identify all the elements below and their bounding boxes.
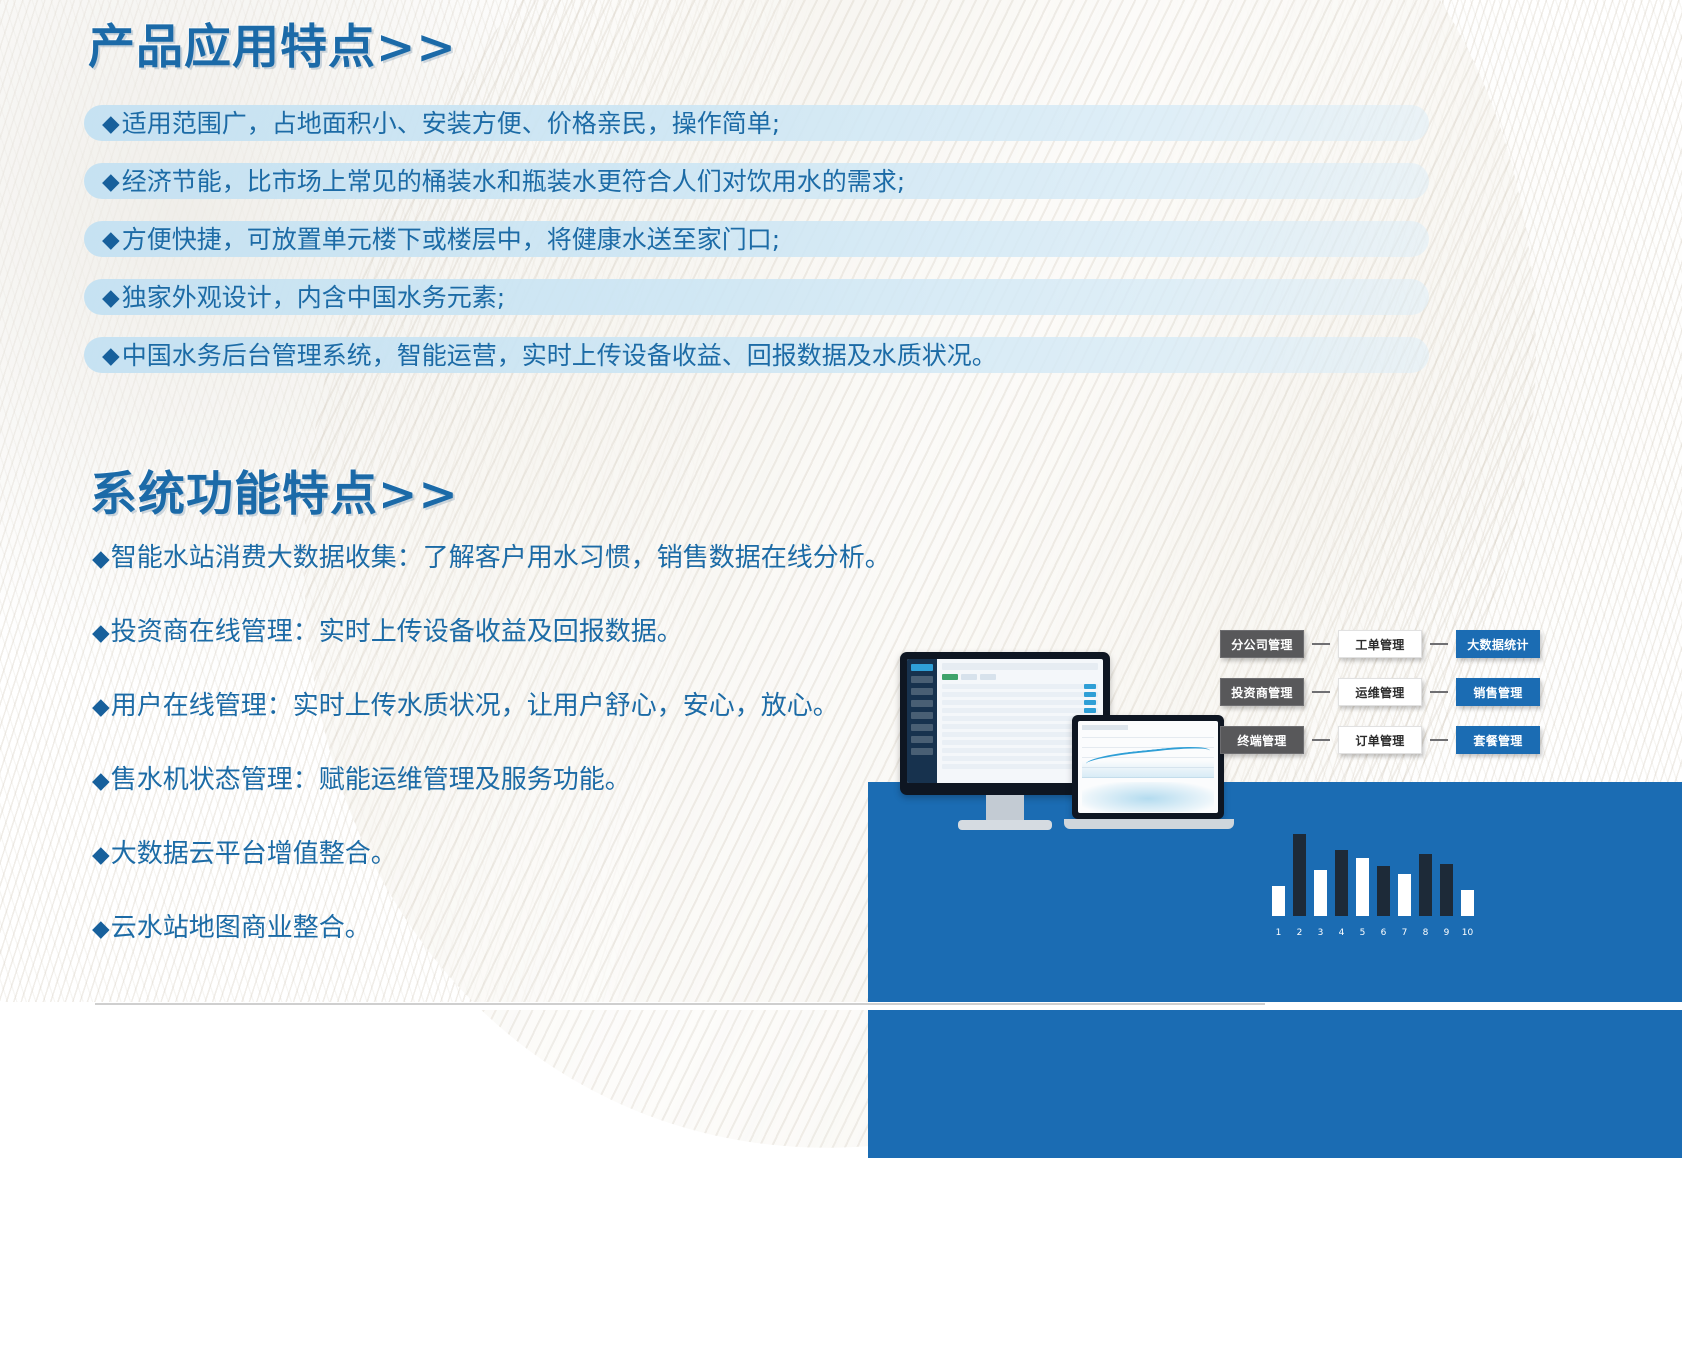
bar-chart-x-label: 4: [1335, 928, 1348, 938]
bar-chart-x-label: 3: [1314, 928, 1327, 938]
laptop-lid: [1072, 715, 1224, 819]
diamond-bullet-icon: ◆: [92, 843, 110, 866]
bar-chart-x-label: 2: [1293, 928, 1306, 938]
flow-box-order-management[interactable]: 订单管理: [1338, 726, 1422, 754]
monitor-stand-base: [958, 820, 1052, 830]
bar-chart-bar: [1272, 886, 1285, 916]
flow-connector: [1312, 691, 1330, 693]
laptop-base: [1064, 819, 1234, 829]
flow-box-big-data-statistics[interactable]: 大数据统计: [1456, 630, 1540, 658]
list-item-label: 中国水务后台管理系统，智能运营，实时上传设备收益、回报数据及水质状况。: [122, 343, 997, 368]
list-item: ◆ 独家外观设计，内含中国水务元素;: [84, 279, 1429, 315]
diamond-bullet-icon: ◆: [92, 621, 110, 644]
laptop-line-chart-mock: [1082, 734, 1214, 778]
flow-row: 分公司管理 工单管理 大数据统计: [1220, 630, 1540, 658]
bar-chart-bar: [1293, 834, 1306, 916]
monitor-stand-neck: [986, 795, 1024, 821]
flow-box-sales-management[interactable]: 销售管理: [1456, 678, 1540, 706]
bar-chart-bar: [1335, 850, 1348, 916]
dashboard-sidebar-mock: [907, 659, 937, 783]
list-item-label: 独家外观设计，内含中国水务元素;: [122, 285, 505, 310]
product-features-heading: 产品应用特点>>: [88, 8, 457, 77]
product-feature-list: ◆ 适用范围广，占地面积小、安装方便、价格亲民，操作简单; ◆ 经济节能，比市场…: [84, 105, 1434, 395]
bar-chart-bar: [1377, 866, 1390, 916]
list-item: ◆ 售水机状态管理：赋能运维管理及服务功能。: [92, 765, 992, 795]
list-item: ◆ 云水站地图商业整合。: [92, 913, 992, 943]
list-item: ◆ 方便快捷，可放置单元楼下或楼层中，将健康水送至家门口;: [84, 221, 1429, 257]
bottom-divider-rule: [95, 1003, 1265, 1005]
bar-chart-bar: [1356, 858, 1369, 916]
list-item: ◆ 适用范围广，占地面积小、安装方便、价格亲民，操作简单;: [84, 105, 1429, 141]
laptop-screen: [1078, 721, 1218, 813]
list-item-label: 售水机状态管理：赋能运维管理及服务功能。: [111, 767, 631, 793]
diamond-bullet-icon: ◆: [92, 917, 110, 940]
system-features-heading: 系统功能特点>>: [90, 455, 459, 524]
bar-chart-bar: [1440, 864, 1453, 916]
list-item: ◆ 中国水务后台管理系统，智能运营，实时上传设备收益、回报数据及水质状况。: [84, 337, 1429, 373]
diamond-bullet-icon: ◆: [92, 547, 110, 570]
diamond-bullet-icon: ◆: [92, 695, 110, 718]
list-item-label: 经济节能，比市场上常见的桶装水和瓶装水更符合人们对饮用水的需求;: [122, 169, 905, 194]
bar-chart-x-label: 1: [1272, 928, 1285, 938]
flow-box-investor-management[interactable]: 投资商管理: [1220, 678, 1304, 706]
bar-chart-x-label: 9: [1440, 928, 1453, 938]
system-illustration: 分公司管理 工单管理 大数据统计 投资商管理 运维管理 销售管理 终端管理 订单…: [868, 560, 1682, 1010]
flow-connector: [1312, 643, 1330, 645]
bar-chart-x-label: 10: [1461, 928, 1474, 938]
statistics-bar-chart: 12345678910: [1272, 818, 1487, 938]
flow-box-work-order-management[interactable]: 工单管理: [1338, 630, 1422, 658]
bar-chart-bar: [1398, 874, 1411, 916]
bar-chart-x-label: 6: [1377, 928, 1390, 938]
flow-connector: [1430, 739, 1448, 741]
list-item-label: 大数据云平台增值整合。: [111, 841, 397, 867]
diamond-bullet-icon: ◆: [102, 344, 120, 367]
bar-chart-bars: [1272, 824, 1487, 916]
list-item-label: 投资商在线管理：实时上传设备收益及回报数据。: [111, 619, 683, 645]
list-item-label: 智能水站消费大数据收集：了解客户用水习惯，销售数据在线分析。: [111, 545, 891, 571]
list-item: ◆ 用户在线管理：实时上传水质状况，让用户舒心，安心，放心。: [92, 691, 992, 721]
flow-box-operations-management[interactable]: 运维管理: [1338, 678, 1422, 706]
flow-box-branch-management[interactable]: 分公司管理: [1220, 630, 1304, 658]
diamond-bullet-icon: ◆: [102, 170, 120, 193]
flow-row: 投资商管理 运维管理 销售管理: [1220, 678, 1540, 706]
flow-box-terminal-management[interactable]: 终端管理: [1220, 726, 1304, 754]
list-item-label: 云水站地图商业整合。: [111, 915, 371, 941]
diamond-bullet-icon: ◆: [102, 228, 120, 251]
flow-connector: [1430, 643, 1448, 645]
flow-row: 终端管理 订单管理 套餐管理: [1220, 726, 1540, 754]
list-item-label: 用户在线管理：实时上传水质状况，让用户舒心，安心，放心。: [111, 693, 839, 719]
bar-chart-bar: [1314, 870, 1327, 916]
bar-chart-x-label: 5: [1356, 928, 1369, 938]
module-flow-diagram: 分公司管理 工单管理 大数据统计 投资商管理 运维管理 销售管理 终端管理 订单…: [1220, 630, 1540, 780]
diamond-bullet-icon: ◆: [102, 286, 120, 309]
diamond-bullet-icon: ◆: [92, 769, 110, 792]
bar-chart-x-label: 8: [1419, 928, 1432, 938]
system-feature-list: ◆ 智能水站消费大数据收集：了解客户用水习惯，销售数据在线分析。 ◆ 投资商在线…: [92, 543, 992, 987]
slide-page: 产品应用特点>> ◆ 适用范围广，占地面积小、安装方便、价格亲民，操作简单; ◆…: [0, 0, 1682, 1010]
bar-chart-x-label: 7: [1398, 928, 1411, 938]
laptop-map-mock: [1082, 782, 1214, 812]
laptop-illustration: [1064, 715, 1234, 840]
bar-chart-bar: [1419, 854, 1432, 916]
list-item-label: 方便快捷，可放置单元楼下或楼层中，将健康水送至家门口;: [122, 227, 780, 252]
diamond-bullet-icon: ◆: [102, 112, 120, 135]
list-item: ◆ 智能水站消费大数据收集：了解客户用水习惯，销售数据在线分析。: [92, 543, 992, 573]
list-item: ◆ 大数据云平台增值整合。: [92, 839, 992, 869]
list-item-label: 适用范围广，占地面积小、安装方便、价格亲民，操作简单;: [122, 111, 780, 136]
bar-chart-x-axis-labels: 12345678910: [1272, 928, 1487, 938]
list-item: ◆ 经济节能，比市场上常见的桶装水和瓶装水更符合人们对饮用水的需求;: [84, 163, 1429, 199]
list-item: ◆ 投资商在线管理：实时上传设备收益及回报数据。: [92, 617, 992, 647]
bar-chart-bar: [1461, 890, 1474, 916]
flow-connector: [1430, 691, 1448, 693]
flow-box-package-management[interactable]: 套餐管理: [1456, 726, 1540, 754]
flow-connector: [1312, 739, 1330, 741]
